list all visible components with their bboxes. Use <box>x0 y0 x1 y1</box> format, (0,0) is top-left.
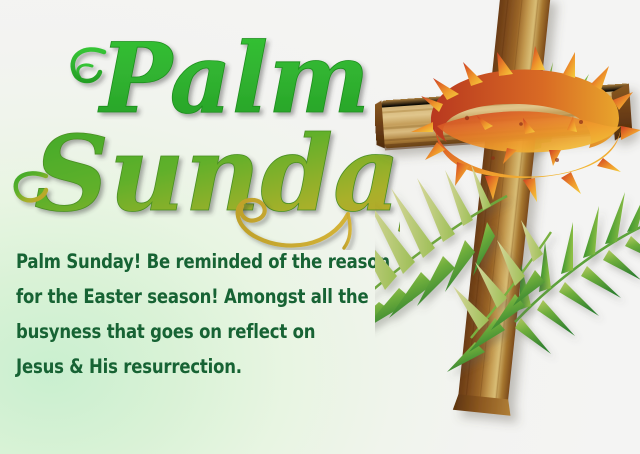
headline-artwork: Palm Sunday <box>0 0 400 250</box>
headline-word-palm: Palm <box>73 22 370 135</box>
palm-frond-lower-right <box>515 186 640 354</box>
greeting-card: Palm Sunday Palm Sunday! Be reminded of … <box>0 0 640 454</box>
headline-line-2: Sunday <box>34 112 400 235</box>
message-line: Jesus & His resurrection. <box>16 349 430 384</box>
cross-artwork <box>375 0 640 454</box>
headline-flourish <box>238 200 350 248</box>
message-line: Palm Sunday! Be reminded of the reason <box>16 244 430 279</box>
headline-word-sunday: Sunday <box>16 112 400 235</box>
message-line: for the Easter season! Amongst all the <box>16 279 430 314</box>
headline-line-1: Palm <box>97 22 370 135</box>
message-line: busyness that goes on reflect on <box>16 314 430 349</box>
